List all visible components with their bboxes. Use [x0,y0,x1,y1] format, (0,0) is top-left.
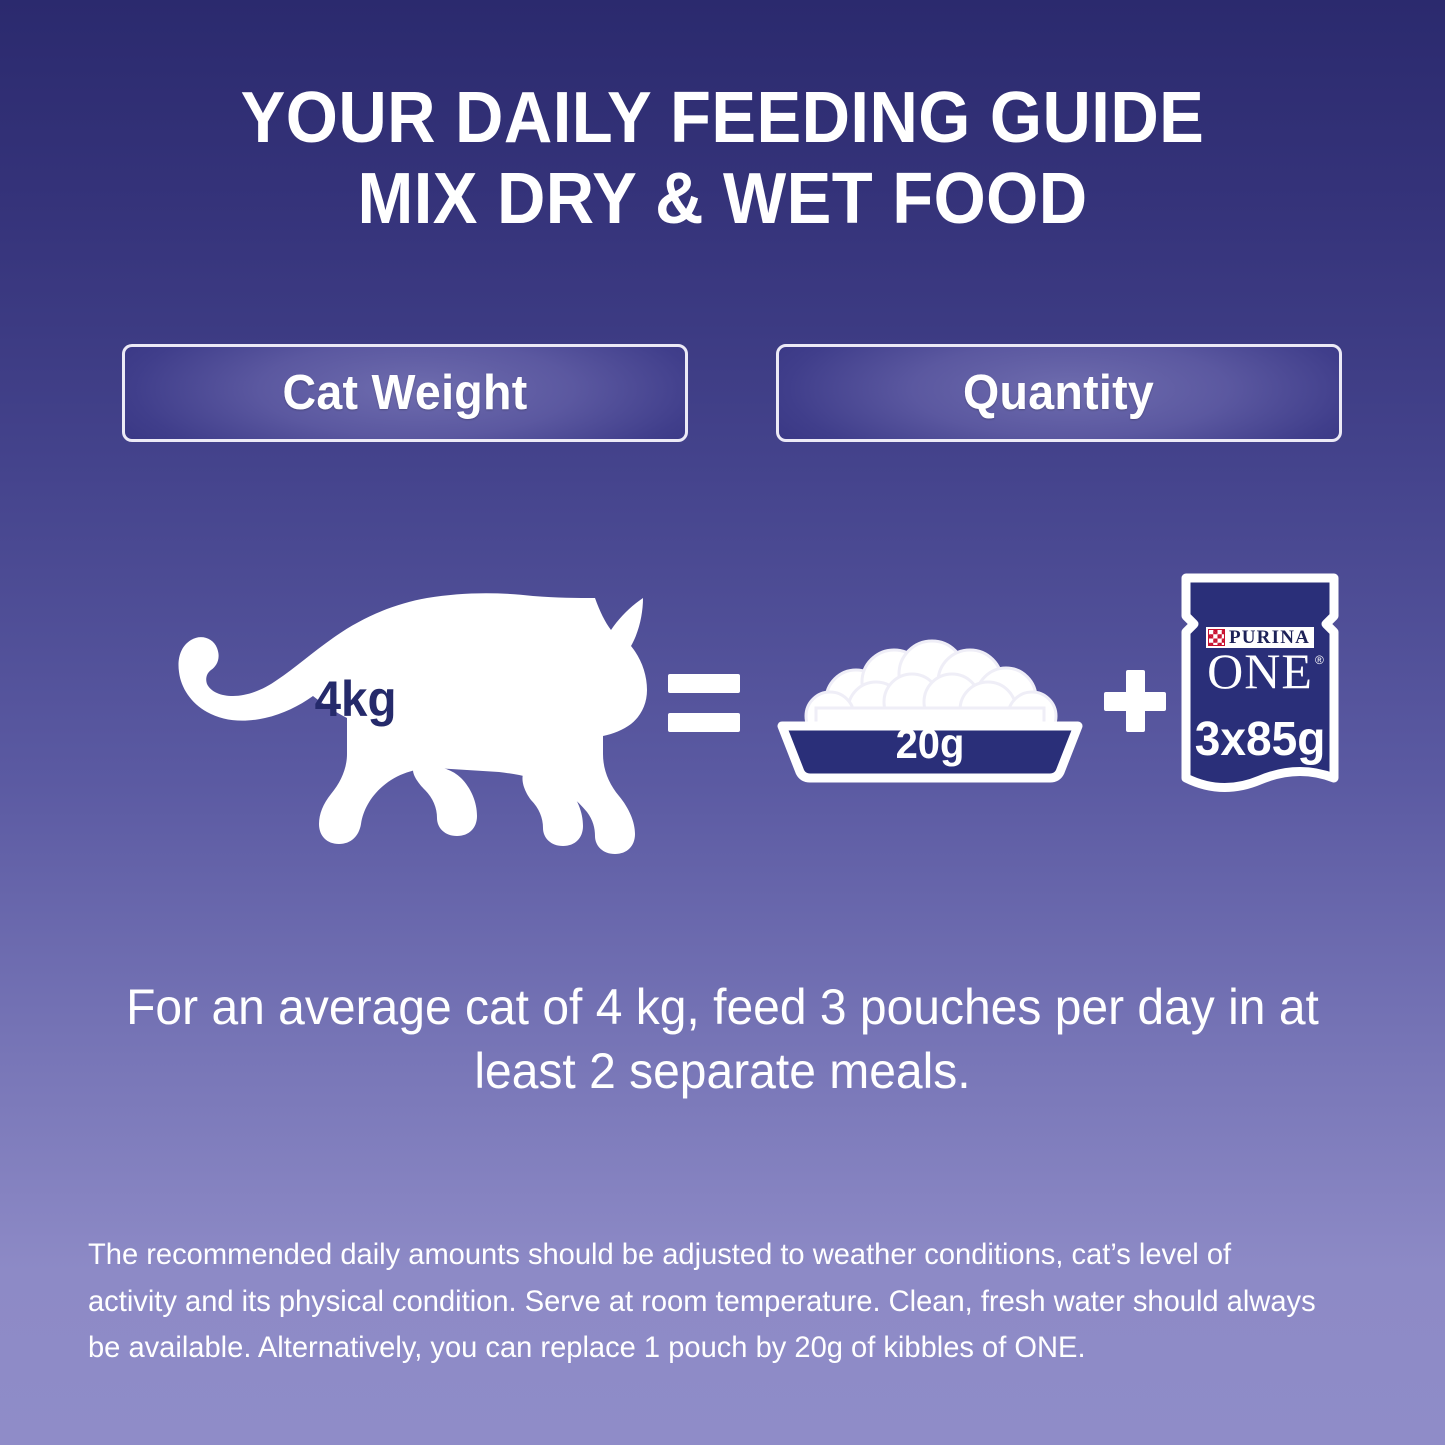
title-line-1: YOUR DAILY FEEDING GUIDE [51,78,1395,159]
dry-food-bowl-group: 20g [760,630,1100,785]
poster-title: YOUR DAILY FEEDING GUIDE MIX DRY & WET F… [0,78,1445,239]
header-box-cat-weight: Cat Weight [122,344,688,442]
equals-icon [668,674,740,732]
plus-icon [1104,670,1166,732]
fineprint-disclaimer: The recommended daily amounts should be … [88,1232,1320,1372]
kibble-bowl-icon [760,630,1100,785]
wet-food-pouch-group: PURINA ONE ® 3x85g [1170,568,1350,818]
pouch-icon [1170,568,1350,818]
feeding-guide-poster: YOUR DAILY FEEDING GUIDE MIX DRY & WET F… [0,0,1445,1445]
column-headers: Cat Weight Quantity [0,344,1445,442]
feeding-equation-row: 4kg [0,560,1445,860]
cat-icon [95,578,675,863]
header-label-quantity: Quantity [963,365,1154,421]
title-line-2: MIX DRY & WET FOOD [51,159,1395,240]
cat-silhouette-group: 4kg [95,578,675,863]
header-label-cat-weight: Cat Weight [282,365,527,421]
feeding-statement: For an average cat of 4 kg, feed 3 pouch… [87,975,1359,1103]
header-box-quantity: Quantity [776,344,1342,442]
